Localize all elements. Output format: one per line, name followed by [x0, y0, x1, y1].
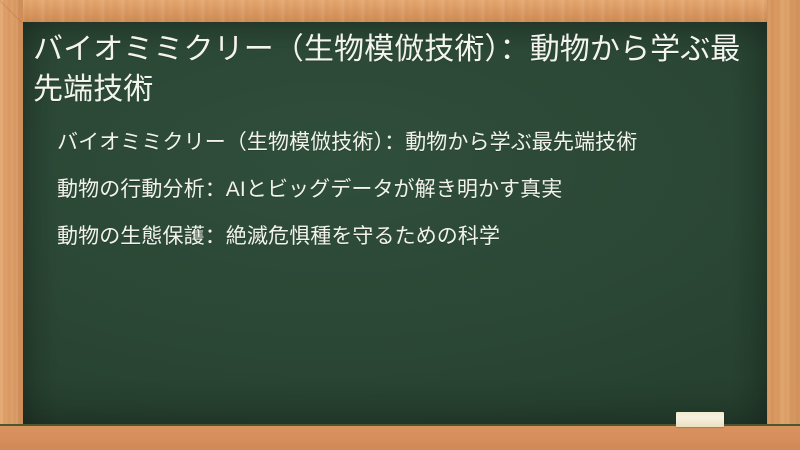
list-item[interactable]: 動物の行動分析：AIとビッグデータが解き明かす真実: [57, 175, 753, 205]
page-title: バイオミミクリー（生物模倣技術）：動物から学ぶ最先端技術: [33, 30, 753, 110]
chalk-ledge: [0, 426, 800, 450]
list-item[interactable]: 動物の生態保護：絶滅危惧種を守るための科学: [57, 222, 753, 252]
blackboard-frame: バイオミミクリー（生物模倣技術）：動物から学ぶ最先端技術 バイオミミクリー（生物…: [0, 0, 800, 450]
chalk-stick-icon[interactable]: [676, 412, 724, 427]
frame-rail-right: [767, 0, 800, 450]
board-content: バイオミミクリー（生物模倣技術）：動物から学ぶ最先端技術 バイオミミクリー（生物…: [23, 22, 767, 426]
chalkboard-surface: バイオミミクリー（生物模倣技術）：動物から学ぶ最先端技術 バイオミミクリー（生物…: [23, 22, 767, 426]
topic-list: バイオミミクリー（生物模倣技術）：動物から学ぶ最先端技術 動物の行動分析：AIと…: [33, 128, 753, 251]
list-item[interactable]: バイオミミクリー（生物模倣技術）：動物から学ぶ最先端技術: [57, 128, 753, 158]
frame-rail-left: [0, 0, 23, 450]
frame-rail-top: [0, 0, 800, 22]
